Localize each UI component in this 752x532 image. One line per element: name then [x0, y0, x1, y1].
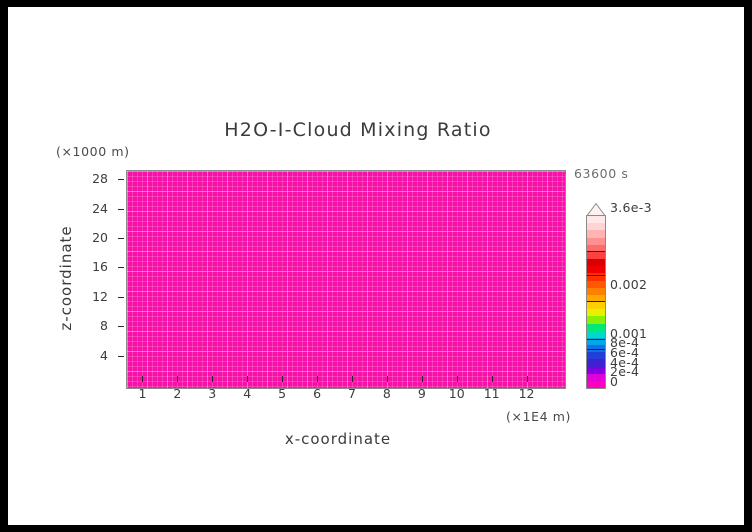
colorbar-divider	[587, 301, 605, 302]
colorbar-divider	[587, 275, 605, 276]
x-axis-tick-label: 10	[442, 386, 472, 401]
colorbar-tick-label: 0.002	[610, 277, 647, 292]
x-axis-tick	[177, 376, 178, 382]
colorbar-band	[587, 230, 605, 238]
y-axis-title: z-coordinate	[57, 198, 75, 358]
y-axis-tick	[118, 326, 124, 327]
x-axis-tick	[422, 376, 423, 382]
x-axis-unit-label: (×1E4 m)	[506, 409, 571, 424]
colorbar-divider	[587, 251, 605, 252]
colorbar-band	[587, 266, 605, 274]
x-axis-tick	[317, 376, 318, 382]
colorbar-extend-arrow	[586, 202, 606, 216]
x-axis-tick-label: 4	[232, 386, 262, 401]
x-axis-tick	[247, 376, 248, 382]
colorbar-band	[587, 280, 605, 288]
colorbar	[586, 215, 606, 389]
x-axis-tick-label: 7	[337, 386, 367, 401]
y-axis-tick-label: 16	[78, 259, 108, 274]
y-axis-tick-label: 24	[78, 201, 108, 216]
x-axis-tick-label: 2	[162, 386, 192, 401]
figure-frame: H2O-I-Cloud Mixing Ratio (×1000 m) (×1E4…	[0, 0, 752, 532]
x-axis-tick	[492, 376, 493, 382]
y-axis-tick	[118, 297, 124, 298]
x-axis-tick-label: 3	[197, 386, 227, 401]
y-axis-tick-label: 20	[78, 230, 108, 245]
colorbar-divider	[587, 339, 605, 340]
y-axis-tick-label: 28	[78, 171, 108, 186]
y-axis-unit-label: (×1000 m)	[56, 144, 130, 159]
x-axis-tick	[282, 376, 283, 382]
y-axis-tick	[118, 179, 124, 180]
colorbar-band	[587, 316, 605, 324]
timestamp-label: 63600 s	[574, 166, 628, 181]
y-axis-tick	[118, 267, 124, 268]
y-axis-tick-label: 4	[78, 348, 108, 363]
x-axis-tick-label: 5	[267, 386, 297, 401]
colorbar-band	[587, 237, 605, 245]
colorbar-band	[587, 352, 605, 360]
colorbar-band	[587, 330, 605, 338]
colorbar-band	[587, 373, 605, 381]
colorbar-band	[587, 301, 605, 309]
figure-canvas: H2O-I-Cloud Mixing Ratio (×1000 m) (×1E4…	[8, 7, 744, 525]
x-axis-tick	[527, 376, 528, 382]
x-axis-title: x-coordinate	[188, 430, 488, 448]
colorbar-band	[587, 251, 605, 259]
y-axis-tick-label: 8	[78, 318, 108, 333]
x-axis-tick	[387, 376, 388, 382]
x-axis-tick-label: 6	[302, 386, 332, 401]
colorbar-band	[587, 223, 605, 231]
x-axis-tick-label: 11	[477, 386, 507, 401]
heatmap-plot-area	[126, 170, 566, 389]
colorbar-band	[587, 287, 605, 295]
colorbar-divider	[587, 349, 605, 350]
grid-mesh-overlay	[127, 171, 565, 388]
y-axis-tick	[118, 209, 124, 210]
x-axis-tick	[142, 376, 143, 382]
x-axis-tick-label: 1	[127, 386, 157, 401]
x-axis-tick-label: 8	[372, 386, 402, 401]
colorbar-band	[587, 215, 605, 223]
x-axis-tick	[212, 376, 213, 382]
colorbar-band	[587, 366, 605, 374]
x-axis-tick-label: 9	[407, 386, 437, 401]
x-axis-tick	[352, 376, 353, 382]
y-axis-tick-label: 12	[78, 289, 108, 304]
colorbar-tick-label: 3.6e-3	[610, 200, 652, 215]
x-axis-tick	[457, 376, 458, 382]
colorbar-band	[587, 359, 605, 367]
colorbar-band	[587, 258, 605, 266]
y-axis-tick	[118, 356, 124, 357]
colorbar-band	[587, 323, 605, 331]
y-axis-tick	[118, 238, 124, 239]
colorbar-tick-label: 0	[610, 374, 618, 389]
page-title: H2O-I-Cloud Mixing Ratio	[8, 119, 708, 141]
colorbar-band	[587, 309, 605, 317]
colorbar-band	[587, 380, 605, 388]
x-axis-tick-label: 12	[512, 386, 542, 401]
